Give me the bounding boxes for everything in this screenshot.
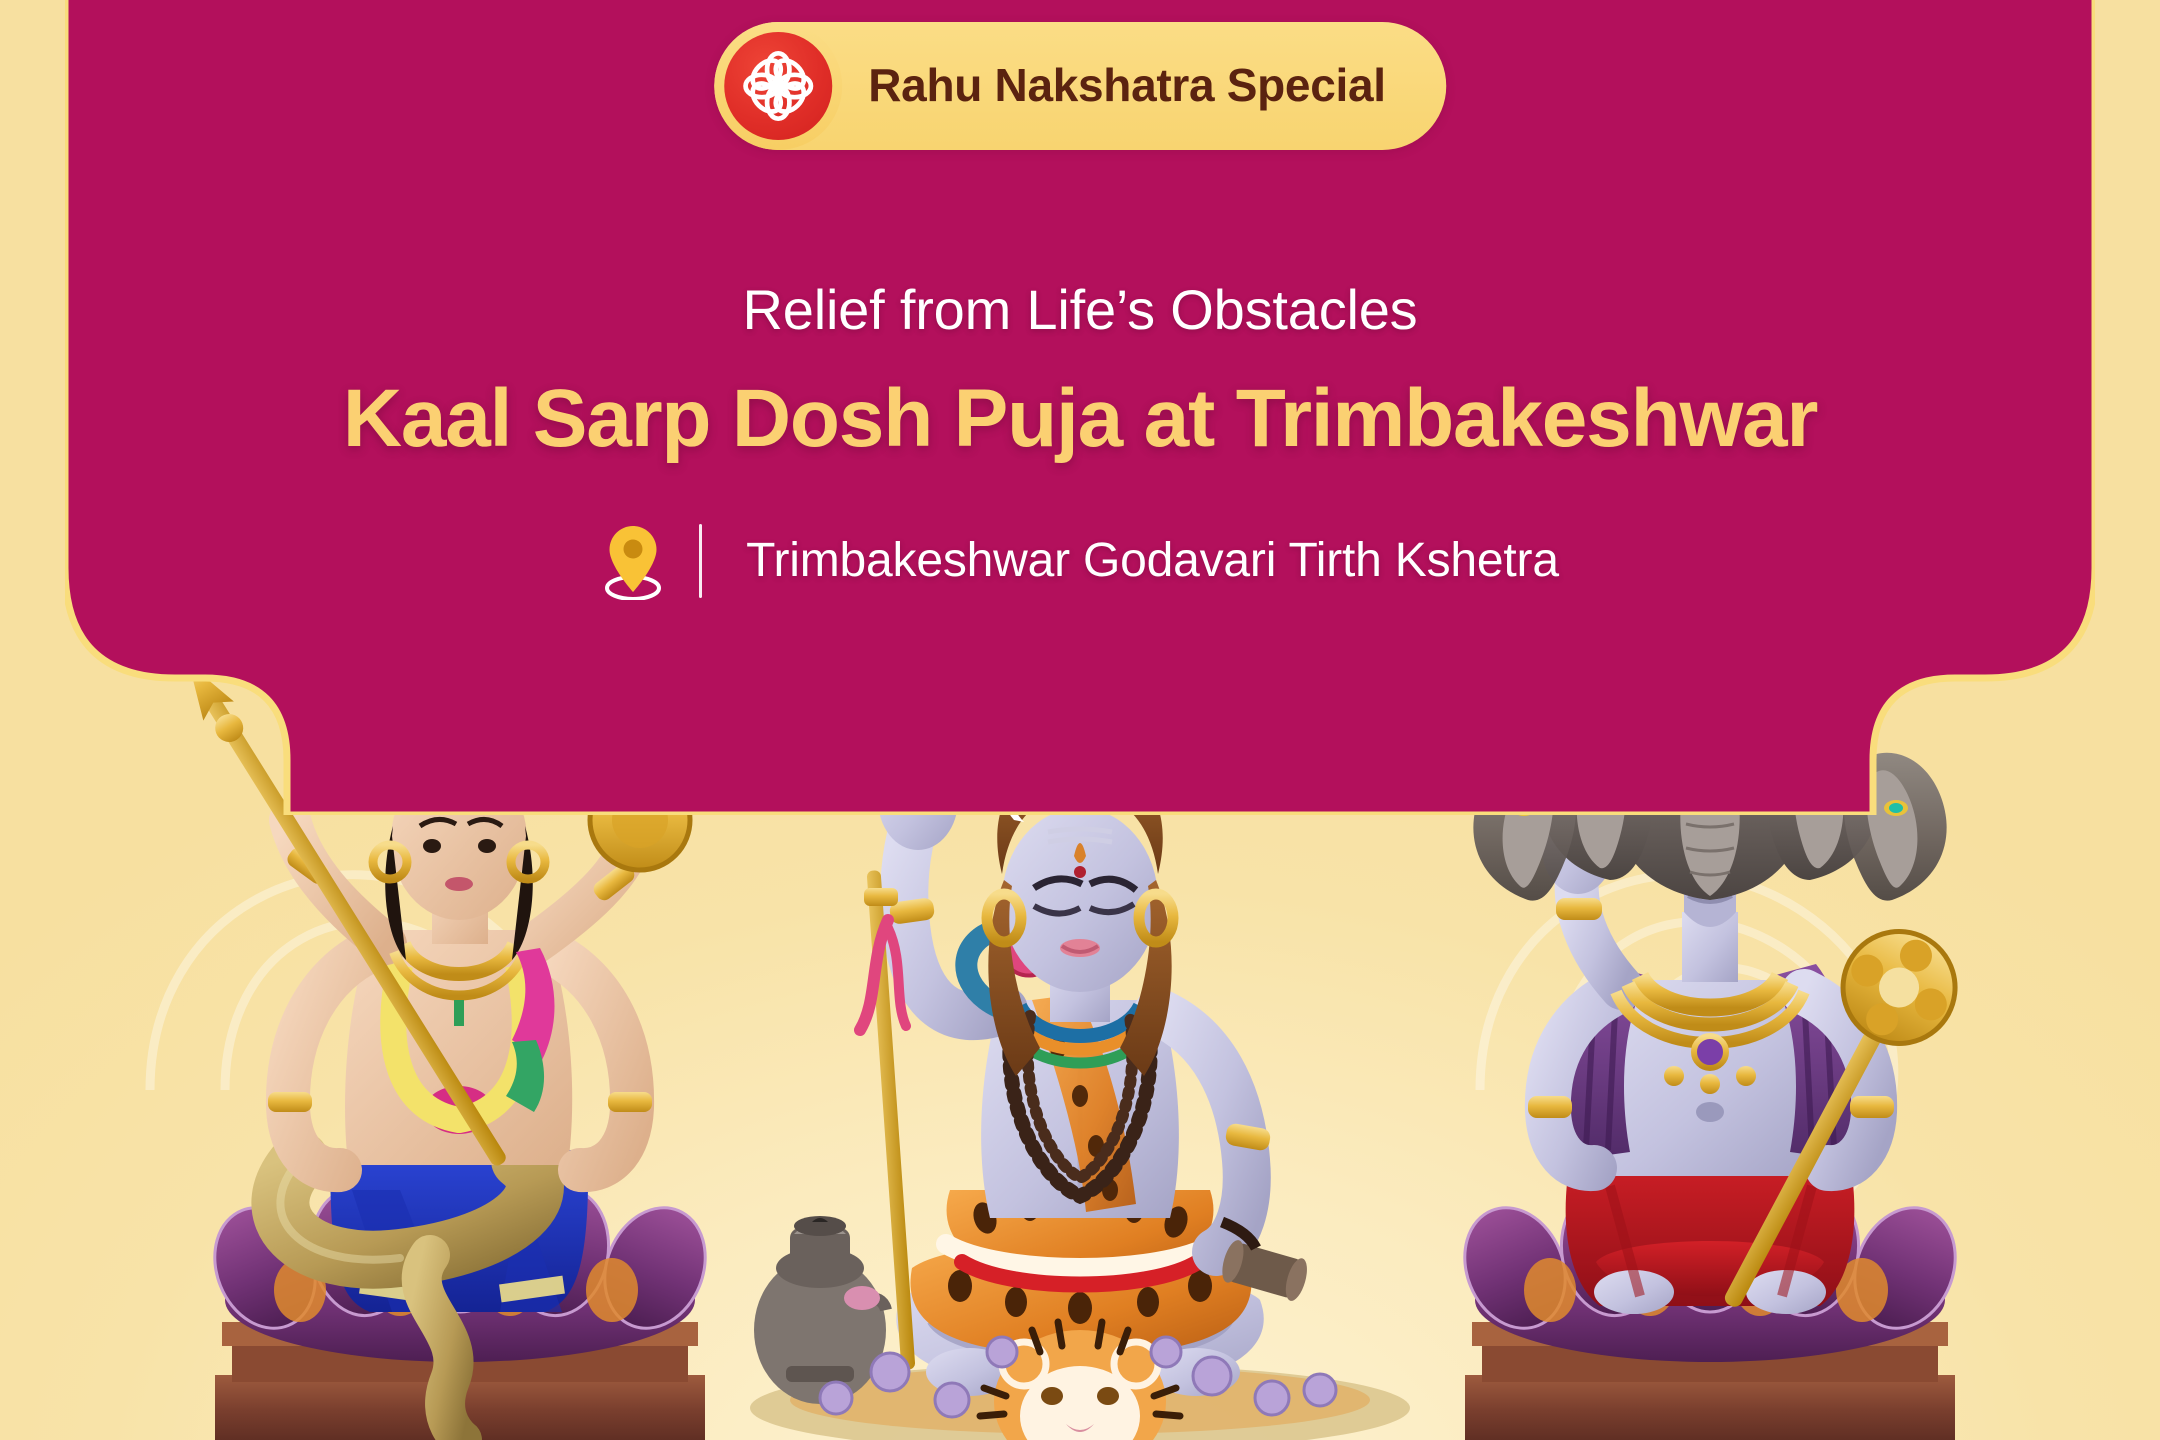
arch-loop-pattern-ornament [0,760,2160,1440]
location-divider [699,524,702,598]
kamandalu-pot [754,1216,886,1404]
rahu-nakshatra-badge[interactable]: Rahu Nakshatra Special [714,22,1446,150]
eyebrow-text: Relief from Life’s Obstacles [65,282,2095,338]
location-text: Trimbakeshwar Godavari Tirth Kshetra [746,537,1559,585]
tiger-face [980,1322,1180,1440]
hero-card-wrapper: Rahu Nakshatra Special Relief from Life’… [0,0,2160,830]
offering-flowers [820,1337,1336,1417]
map-pin-icon [601,522,665,600]
page-title: Kaal Sarp Dosh Puja at Trimbakeshwar [65,378,2095,460]
badge-label: Rahu Nakshatra Special [868,62,1386,110]
lotus-rosette-icon [714,22,842,150]
location-row: Trimbakeshwar Godavari Tirth Kshetra [65,522,2095,600]
hero-card: Rahu Nakshatra Special Relief from Life’… [65,0,2095,815]
promo-banner: Rahu Nakshatra Special Relief from Life’… [0,0,2160,1440]
